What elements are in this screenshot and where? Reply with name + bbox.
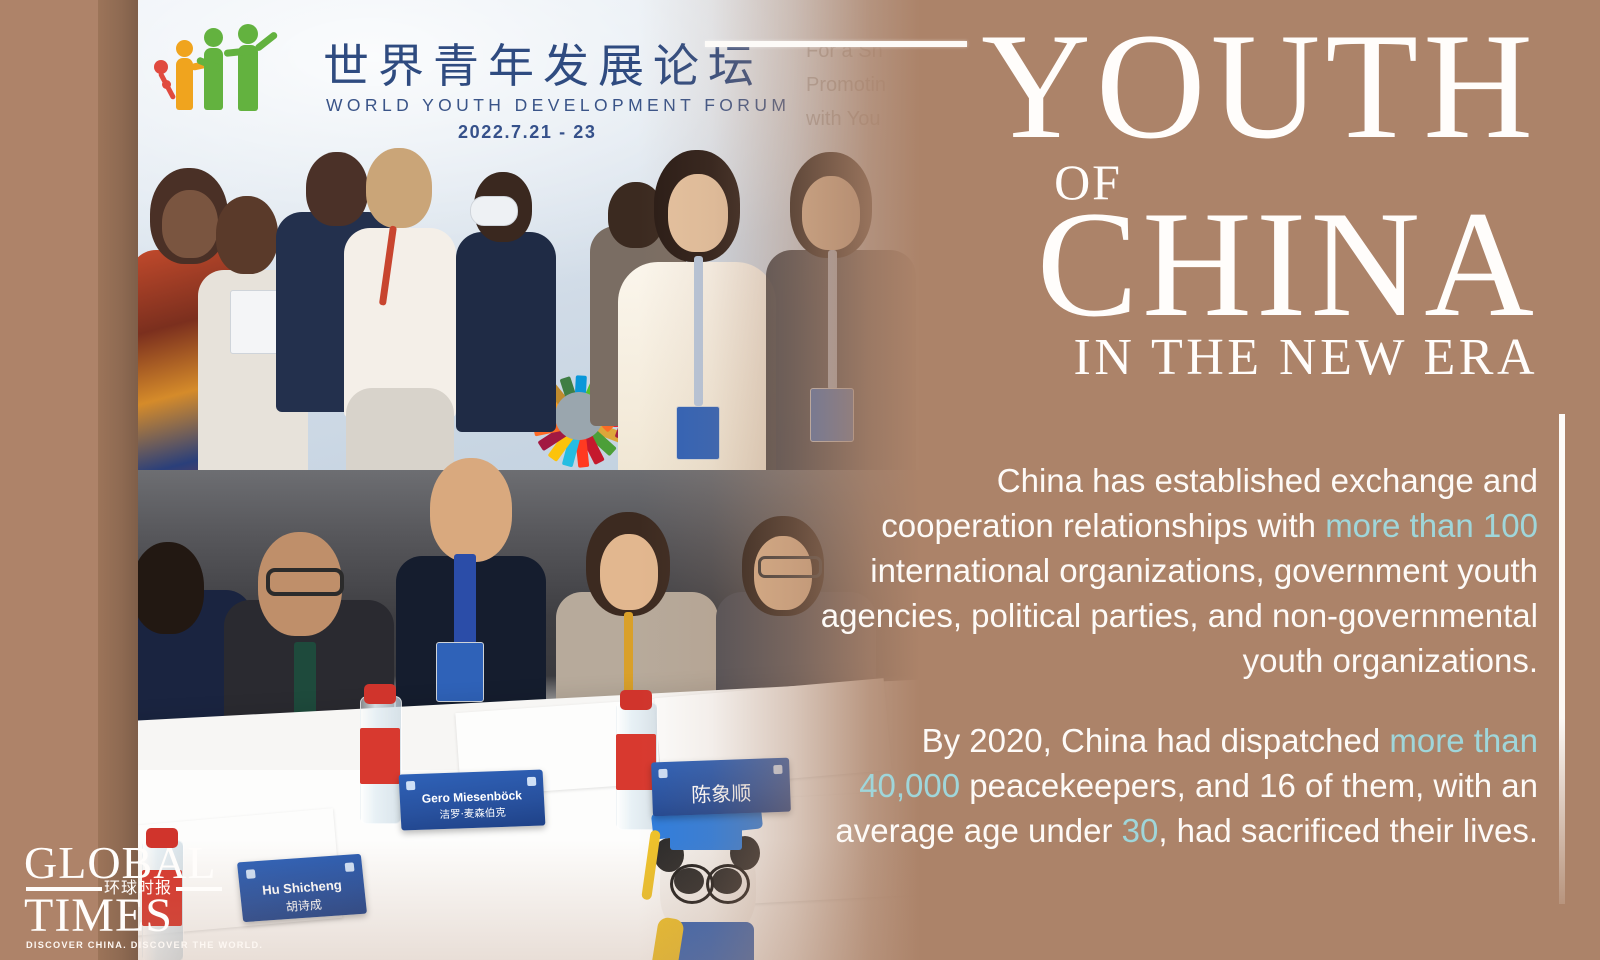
left-margin-strip bbox=[0, 0, 98, 960]
para2-highlight-30: 30 bbox=[1122, 812, 1159, 849]
body-vertical-rule bbox=[1559, 414, 1565, 904]
header-rule bbox=[705, 41, 967, 47]
headline-china: CHINA bbox=[1037, 188, 1538, 340]
delegate-face-1 bbox=[162, 190, 218, 258]
seated-head-left bbox=[138, 542, 204, 634]
para2-text-part1: By 2020, China had dispatched bbox=[922, 722, 1390, 759]
logo-word-times: TIMES bbox=[24, 892, 173, 940]
photo-content: 世界青年发展论坛 WORLD YOUTH DEVELOPMENT FORUM 2… bbox=[138, 0, 920, 960]
para1-text-part2: international organizations, government … bbox=[821, 552, 1538, 679]
bottle-cap-1 bbox=[364, 684, 396, 704]
paragraph-peacekeepers: By 2020, China had dispatched more than … bbox=[818, 718, 1538, 853]
headline-new-era: IN THE NEW ERA bbox=[1074, 332, 1538, 384]
lanyard-4 bbox=[624, 612, 633, 700]
necktie-blue bbox=[454, 554, 476, 646]
global-times-logo: GLOBAL 环球时报 TIMES DISCOVER CHINA. DISCOV… bbox=[24, 840, 224, 948]
forum-photo: 世界青年发展论坛 WORLD YOUTH DEVELOPMENT FORUM 2… bbox=[138, 0, 920, 960]
left-shadow-strip bbox=[98, 0, 140, 960]
glasses-icon bbox=[266, 568, 344, 596]
seated-head-student bbox=[430, 458, 512, 562]
delegate-head-3 bbox=[306, 152, 368, 226]
bottle-label-1 bbox=[360, 728, 400, 784]
delegate-standing-5 bbox=[456, 232, 556, 432]
para1-highlight-100: more than 100 bbox=[1325, 507, 1538, 544]
name-placard-gero-miesenbock: Gero Miesenböck 洁罗·麦森伯克 bbox=[399, 770, 546, 831]
logo-rule-right bbox=[176, 887, 222, 891]
paragraph-exchange-relationships: China has established exchange and coope… bbox=[818, 458, 1538, 683]
poster-root: 世界青年发展论坛 WORLD YOUTH DEVELOPMENT FORUM 2… bbox=[0, 0, 1600, 960]
placard-name-cn: 洁罗·麦森伯克 bbox=[400, 803, 545, 823]
face-mask-icon bbox=[470, 196, 518, 226]
forum-logo-icon bbox=[152, 22, 280, 120]
banner-dates: 2022.7.21 - 23 bbox=[458, 122, 597, 143]
student-badge bbox=[436, 642, 484, 702]
delegate-head-2 bbox=[216, 196, 278, 274]
headline-youth: YOUTH bbox=[981, 10, 1538, 162]
logo-tagline: DISCOVER CHINA. DISCOVER THE WORLD. bbox=[26, 940, 263, 950]
para2-text-part3: , had sacrificed their lives. bbox=[1158, 812, 1538, 849]
delegate-head-4 bbox=[366, 148, 432, 228]
